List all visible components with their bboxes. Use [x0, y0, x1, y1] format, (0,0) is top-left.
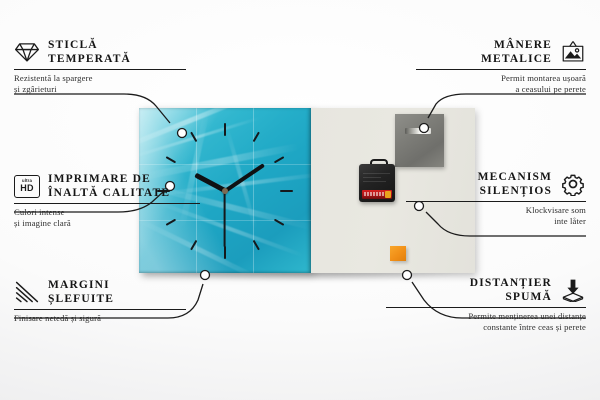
callout-rule: [14, 309, 186, 310]
picture-frame-hanging-icon: [560, 40, 586, 64]
callout-sticla-temperata: STICLĂ TEMPERATĂ Rezistentă la spargere …: [14, 38, 186, 94]
callout-title: DISTANȚIER SPUMĂ: [470, 276, 552, 304]
callout-header: ultra HD IMPRIMARE DE ÎNALTĂ CALITATE: [14, 172, 200, 200]
ultra-hd-main-label: HD: [20, 184, 33, 193]
callout-description: Permit montarea ușoară a ceasului pe per…: [416, 73, 586, 94]
movement-housing: [359, 164, 395, 202]
beveled-edge-icon: [14, 280, 40, 304]
callout-manere-metalice: MÂNERE METALICE Permit montarea ușoară a…: [416, 38, 586, 94]
callout-title: MÂNERE METALICE: [481, 38, 552, 66]
callout-rule: [14, 203, 200, 204]
diamond-icon: [14, 40, 40, 64]
callout-title: MECANISM SILENȚIOS: [478, 170, 552, 198]
metal-hanger-plate: [395, 114, 444, 167]
callout-description: Klockvisare som inte låter: [406, 205, 586, 226]
callout-rule: [14, 69, 186, 70]
callout-header: MARGINI ȘLEFUITE: [14, 278, 186, 306]
callout-header: STICLĂ TEMPERATĂ: [14, 38, 186, 66]
callout-header: MÂNERE METALICE: [416, 38, 586, 66]
movement-detail: [363, 177, 381, 178]
callout-description: Culori intense și imagine clară: [14, 207, 200, 228]
callout-imprimare-inalta-calitate: ultra HD IMPRIMARE DE ÎNALTĂ CALITATE Cu…: [14, 172, 200, 228]
callout-rule: [416, 69, 586, 70]
callout-title: STICLĂ TEMPERATĂ: [48, 38, 131, 66]
callout-distantier-spuma: DISTANȚIER SPUMĂ Permite menținerea unei…: [386, 276, 586, 332]
movement-detail: [363, 173, 390, 174]
callout-rule: [386, 307, 586, 308]
callout-margini-slefuite: MARGINI ȘLEFUITE Finisare netedă și sigu…: [14, 278, 186, 324]
callout-mecanism-silentios: MECANISM SILENȚIOS Klockvisare som inte …: [406, 170, 586, 226]
battery-label: [364, 192, 384, 196]
foam-spacer-arrow-icon: [560, 278, 586, 302]
movement-detail: [363, 181, 386, 182]
callout-title: IMPRIMARE DE ÎNALTĂ CALITATE: [48, 172, 170, 200]
gear-icon: [560, 172, 586, 196]
product-infographic: STICLĂ TEMPERATĂ Rezistentă la spargere …: [0, 0, 600, 400]
callout-title: MARGINI ȘLEFUITE: [48, 278, 114, 306]
callout-rule: [406, 201, 586, 202]
foam-spacer-pad: [390, 246, 406, 261]
callout-description: Rezistentă la spargere și zgârieturi: [14, 73, 186, 94]
battery: [362, 190, 392, 199]
clock-movement: [359, 164, 395, 202]
hanger-slot: [405, 128, 431, 134]
callout-description: Permite menținerea unei distanțe constan…: [386, 311, 586, 332]
callout-header: MECANISM SILENȚIOS: [406, 170, 586, 198]
battery-positive-terminal: [385, 191, 391, 198]
callout-header: DISTANȚIER SPUMĂ: [386, 276, 586, 304]
ultra-hd-icon: ultra HD: [14, 175, 40, 198]
callout-description: Finisare netedă și sigură: [14, 313, 186, 324]
